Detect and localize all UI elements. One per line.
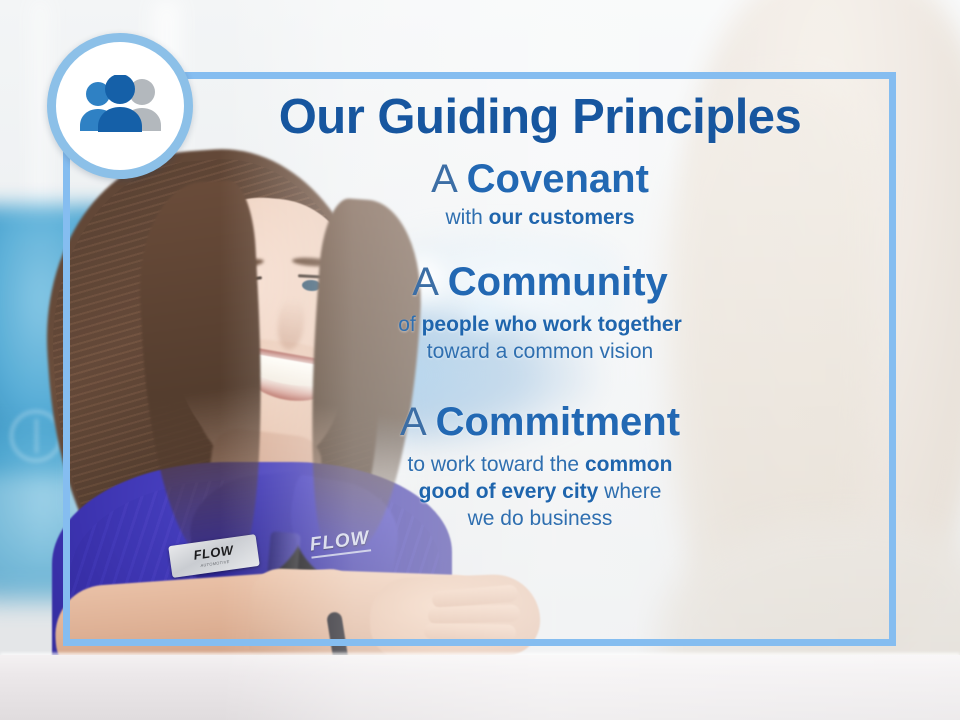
principle-detail: to work toward the common good of every … bbox=[200, 452, 880, 533]
detail-segment: with bbox=[445, 206, 488, 229]
principle-heading: A Community bbox=[200, 260, 880, 304]
principle-keyword: Covenant bbox=[467, 157, 649, 201]
principle-keyword: Commitment bbox=[436, 400, 680, 444]
detail-segment-bold: our customers bbox=[489, 206, 635, 229]
detail-segment-bold: common bbox=[585, 453, 673, 476]
principle-keyword: Community bbox=[448, 260, 668, 304]
principle-heading: A Covenant bbox=[200, 157, 880, 201]
group-people-icon bbox=[47, 33, 193, 179]
finger bbox=[428, 604, 521, 624]
principle-commitment: A Commitment to work toward the common g… bbox=[200, 400, 880, 533]
detail-segment: toward a common vision bbox=[427, 340, 653, 363]
principle-article: A bbox=[400, 400, 424, 444]
finger bbox=[424, 623, 516, 641]
promo-graphic: FLOW AUTOMOTIVE FLOW bbox=[0, 0, 960, 720]
principle-covenant: A Covenant with our customers bbox=[200, 157, 880, 232]
principle-article: A bbox=[412, 260, 436, 304]
principle-heading: A Commitment bbox=[200, 400, 880, 444]
detail-segment: we do business bbox=[468, 507, 613, 530]
detail-segment-bold: people who work together bbox=[422, 313, 682, 336]
detail-segment: to work toward the bbox=[408, 453, 585, 476]
detail-segment-bold: good of every city bbox=[419, 480, 599, 503]
page-title: Our Guiding Principles bbox=[200, 92, 880, 143]
detail-segment: of bbox=[398, 313, 421, 336]
principle-detail: with our customers bbox=[200, 205, 880, 232]
principle-community: A Community of people who work together … bbox=[200, 260, 880, 366]
principle-detail: of people who work together toward a com… bbox=[200, 312, 880, 366]
principle-article: A bbox=[431, 157, 455, 201]
detail-segment: where bbox=[598, 480, 661, 503]
principles-copy: Our Guiding Principles A Covenant with o… bbox=[200, 92, 880, 537]
white-desk bbox=[0, 655, 960, 720]
